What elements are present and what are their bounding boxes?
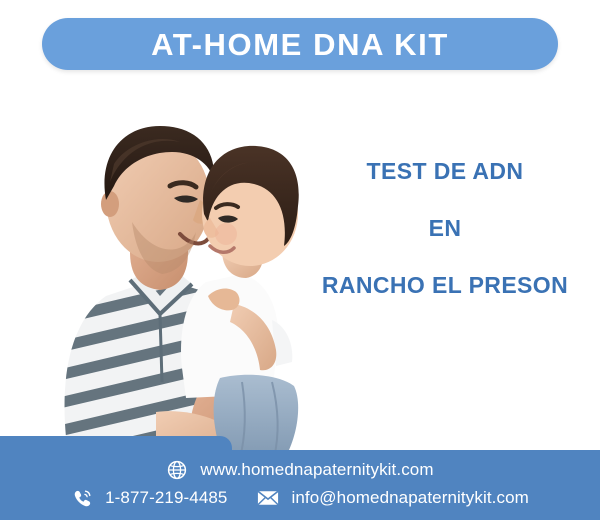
footer-website-row: www.homednapaternitykit.com	[0, 459, 600, 481]
headline-block: TEST DE ADN EN RANCHO EL PRESON	[300, 160, 590, 297]
header-banner: AT-HOME DNA KIT	[42, 18, 558, 70]
footer-contact-row: 1-877-219-4485 info@homednapaternitykit.…	[0, 487, 600, 509]
envelope-icon	[257, 487, 279, 509]
footer-phone[interactable]: 1-877-219-4485	[71, 487, 227, 509]
poster-canvas: AT-HOME DNA KIT	[0, 0, 600, 520]
footer-website-label: www.homednapaternitykit.com	[200, 460, 433, 480]
globe-icon	[166, 459, 188, 481]
headline-line-2: EN	[300, 217, 590, 240]
footer-email[interactable]: info@homednapaternitykit.com	[257, 487, 528, 509]
father-and-child-photo	[10, 82, 330, 460]
footer-email-label: info@homednapaternitykit.com	[291, 488, 528, 508]
footer-website[interactable]: www.homednapaternitykit.com	[166, 459, 433, 481]
headline-line-3: RANCHO EL PRESON	[300, 274, 590, 297]
headline-line-1: TEST DE ADN	[300, 160, 590, 183]
phone-icon	[71, 487, 93, 509]
footer-phone-label: 1-877-219-4485	[105, 488, 227, 508]
page-title: AT-HOME DNA KIT	[151, 29, 449, 60]
